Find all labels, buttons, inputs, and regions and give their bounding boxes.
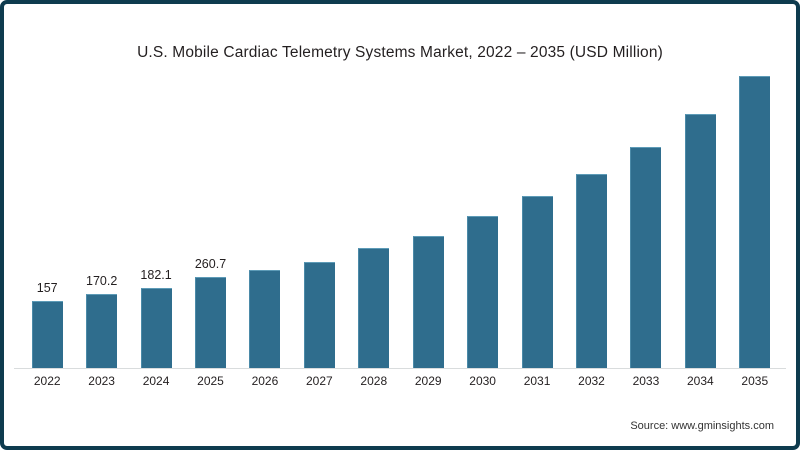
x-tick-label-2024: 2024 — [126, 374, 186, 388]
bar-2032 — [576, 174, 607, 368]
bar-2033 — [630, 147, 661, 368]
bar-2027 — [304, 262, 335, 368]
bar-2034 — [685, 114, 716, 368]
x-tick-label-2026: 2026 — [235, 374, 295, 388]
x-tick-label-2034: 2034 — [670, 374, 730, 388]
x-tick-label-2030: 2030 — [453, 374, 513, 388]
bar-2030 — [467, 216, 498, 368]
bar-2023 — [86, 294, 117, 368]
x-tick-label-2032: 2032 — [562, 374, 622, 388]
x-tick-label-2022: 2022 — [17, 374, 77, 388]
bar-2029 — [413, 236, 444, 368]
x-tick-label-2027: 2027 — [289, 374, 349, 388]
x-tick-label-2033: 2033 — [616, 374, 676, 388]
bar-value-label-2025: 260.7 — [171, 257, 251, 271]
bar-2025 — [195, 277, 226, 368]
bar-2024 — [141, 288, 172, 368]
bar-2026 — [249, 270, 280, 368]
bar-2031 — [522, 196, 553, 368]
chart-figure: U.S. Mobile Cardiac Telemetry Systems Ma… — [0, 0, 800, 450]
bar-2028 — [358, 248, 389, 368]
x-tick-label-2031: 2031 — [507, 374, 567, 388]
x-tick-label-2035: 2035 — [725, 374, 785, 388]
bar-2035 — [739, 76, 770, 368]
x-tick-label-2023: 2023 — [72, 374, 132, 388]
x-tick-label-2025: 2025 — [181, 374, 241, 388]
x-axis-baseline — [14, 368, 786, 369]
plot-area: 1572022170.22023182.12024260.72025202620… — [0, 0, 800, 450]
source-attribution: Source: www.gminsights.com — [630, 420, 774, 432]
bar-2022 — [32, 301, 63, 368]
x-tick-label-2029: 2029 — [398, 374, 458, 388]
x-tick-label-2028: 2028 — [344, 374, 404, 388]
